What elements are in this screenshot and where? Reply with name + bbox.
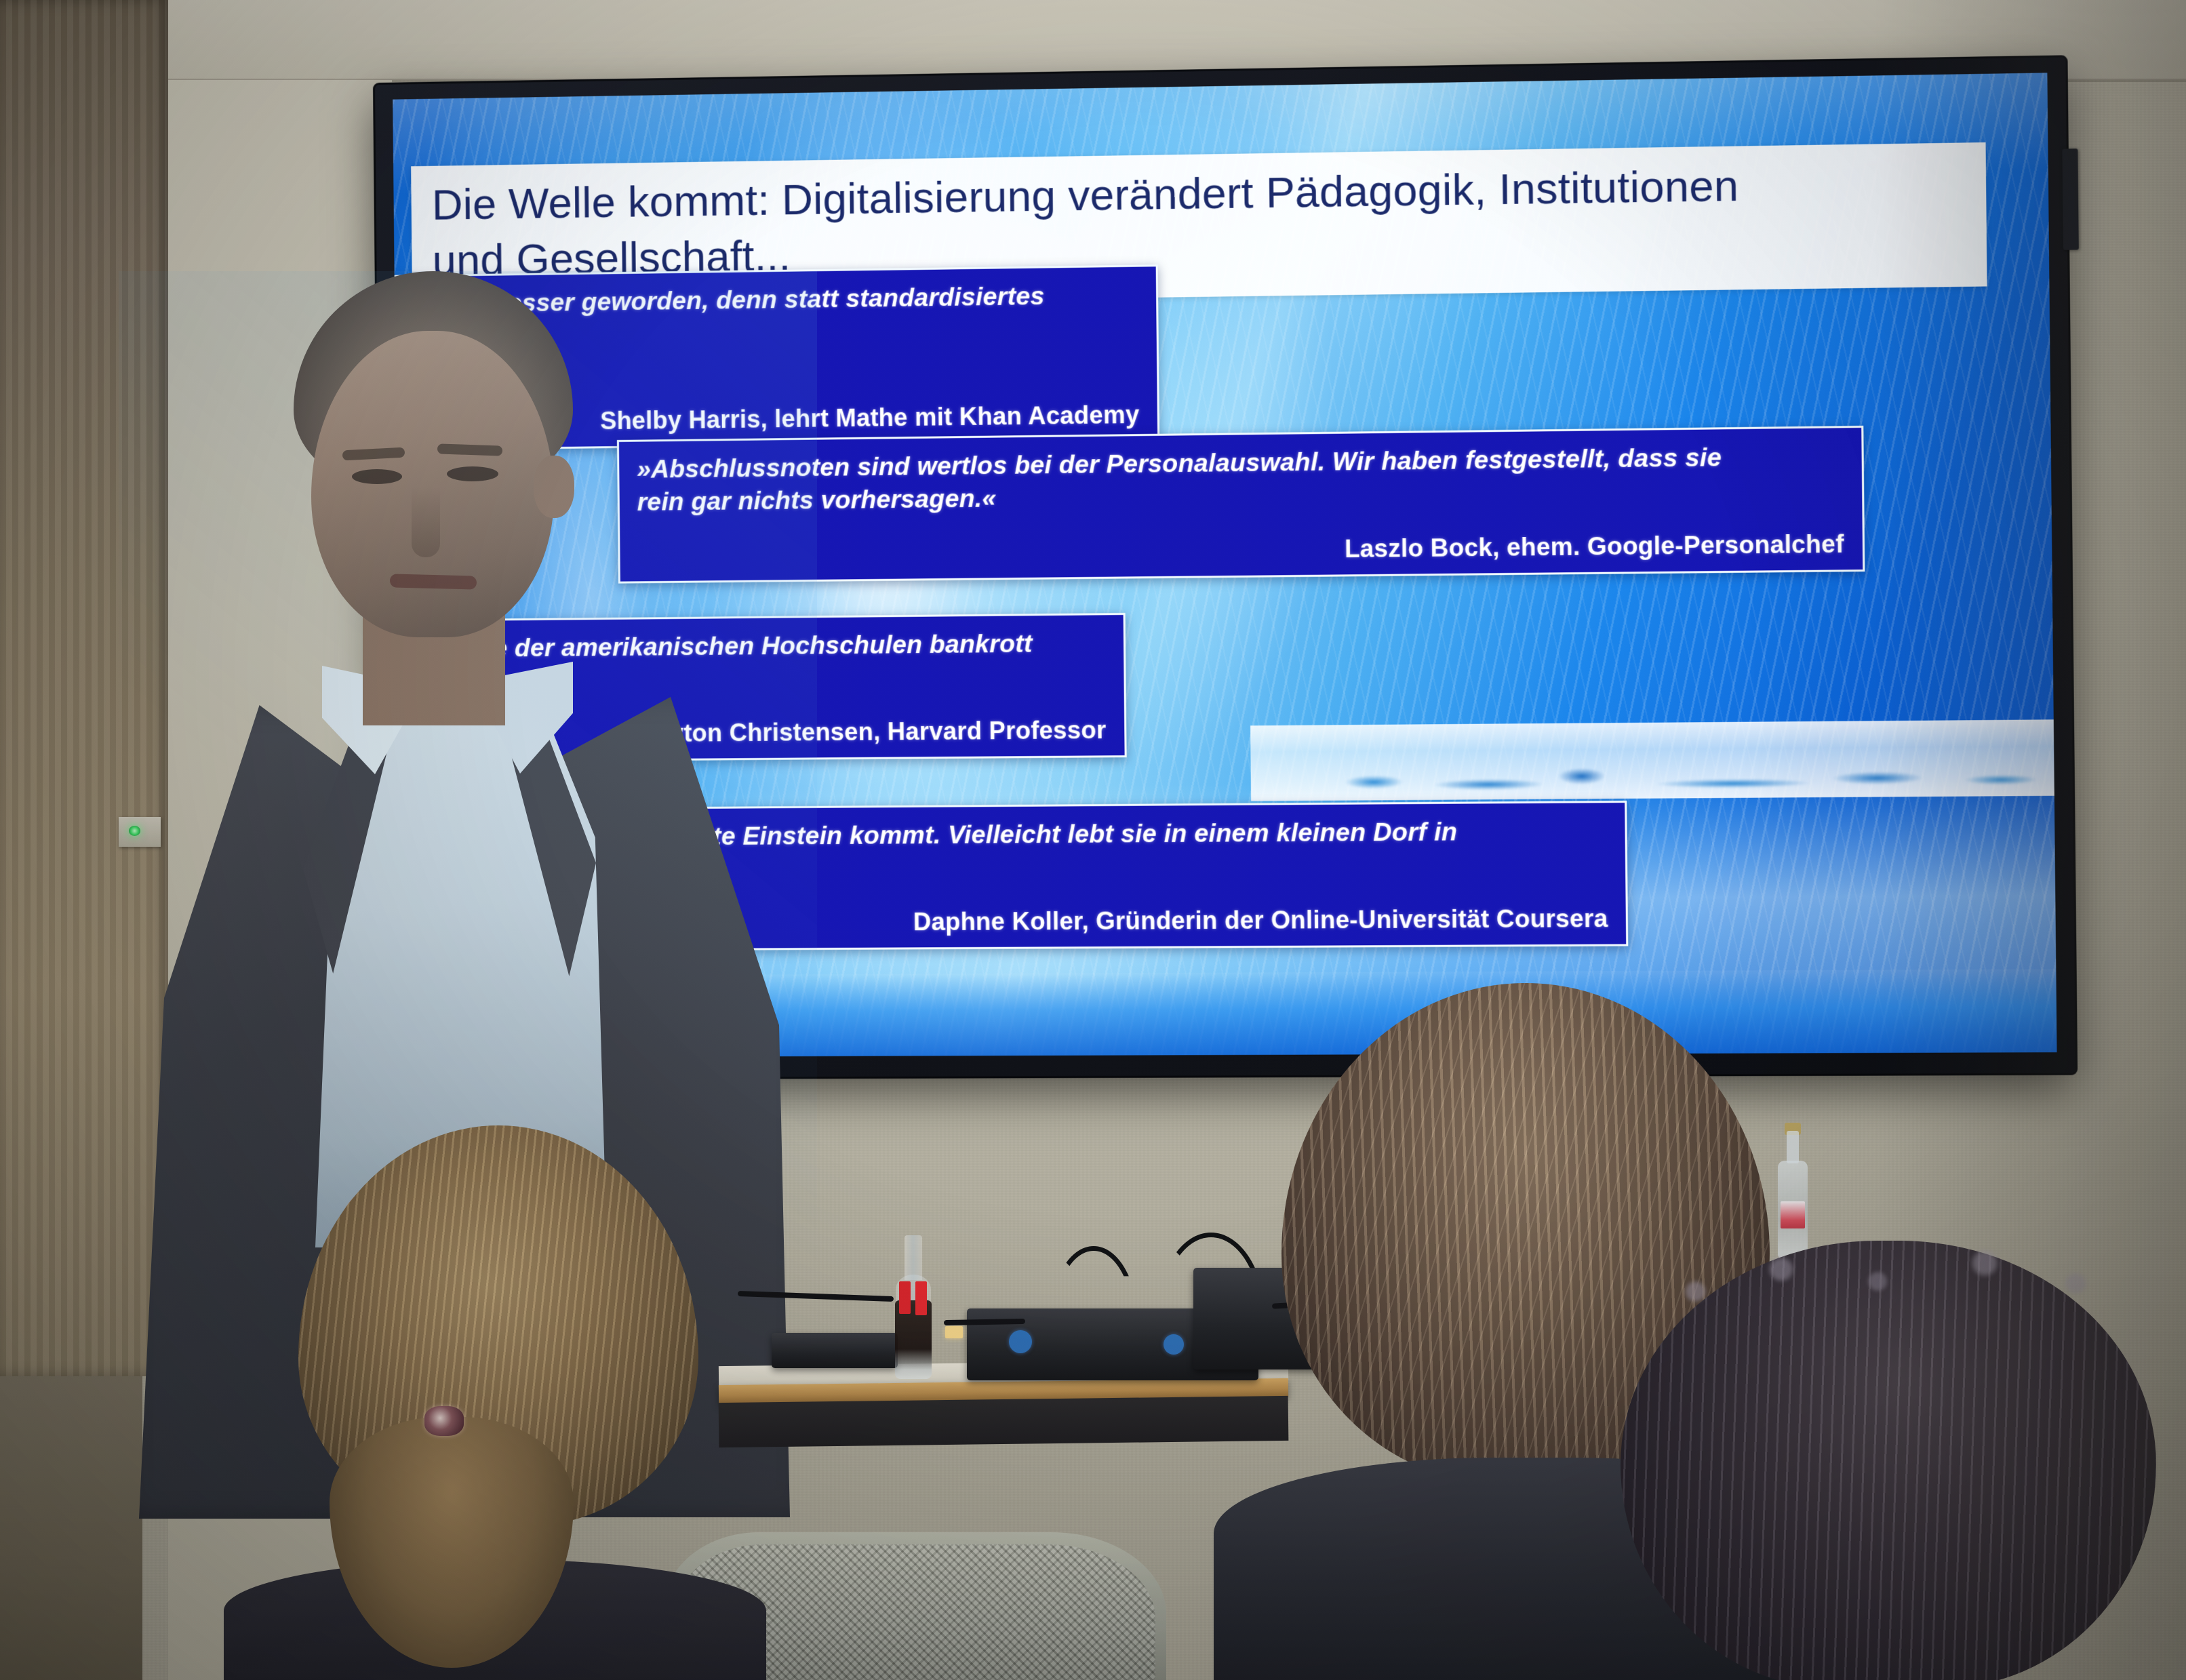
- photo-vignette: [0, 0, 2186, 1680]
- presentation-photo-scene: Die Welle kommt: Digitalisierung verände…: [0, 0, 2186, 1680]
